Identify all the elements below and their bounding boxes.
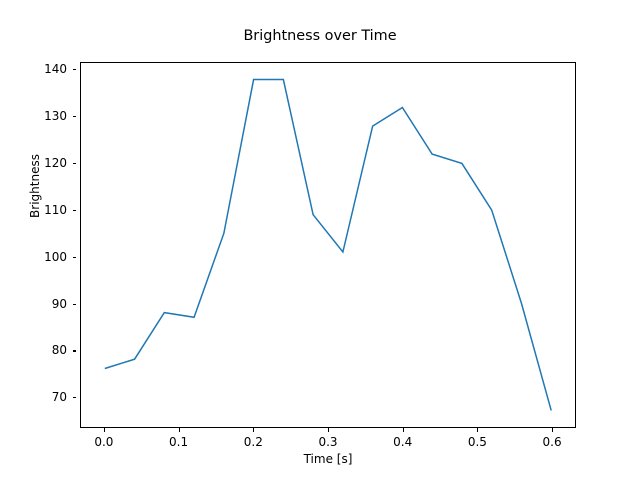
x-tick-label: 0.4 [378,436,428,448]
line-series-svg [81,63,575,427]
y-tick-label: 120 [27,157,67,169]
y-tick-label: 90 [27,298,67,310]
y-tick-mark [73,116,77,117]
x-tick-label: 0.2 [228,436,278,448]
x-tick-mark [477,428,478,432]
y-tick-mark [73,304,77,305]
y-tick-label: 70 [27,391,67,403]
figure-canvas: Brightness over Time Brightness 70809010… [0,0,640,480]
x-tick-label: 0.3 [303,436,353,448]
chart-title: Brightness over Time [0,28,640,44]
y-tick-mark [73,350,77,351]
x-tick-mark [104,428,105,432]
x-tick-mark [552,428,553,432]
x-tick-label: 0.0 [79,436,129,448]
y-tick-label: 130 [27,110,67,122]
y-tick-mark [73,69,77,70]
x-tick-mark [253,428,254,432]
x-tick-label: 0.1 [154,436,204,448]
y-tick-label: 110 [27,204,67,216]
y-tick-label: 80 [27,344,67,356]
brightness-line [105,80,551,411]
y-tick-label: 140 [27,63,67,75]
y-tick-mark [73,163,77,164]
x-tick-mark [403,428,404,432]
plot-area [80,62,576,428]
y-axis-ticks: 708090100110120130140 [30,62,76,428]
x-tick-mark [179,428,180,432]
y-tick-mark [73,257,77,258]
x-tick-mark [328,428,329,432]
y-tick-mark [73,397,77,398]
x-axis-ticks: 0.00.10.20.30.40.50.6 [80,428,576,454]
x-axis-label: Time [s] [80,452,576,466]
y-tick-label: 100 [27,251,67,263]
x-tick-label: 0.5 [452,436,502,448]
y-tick-mark [73,210,77,211]
x-tick-label: 0.6 [527,436,577,448]
